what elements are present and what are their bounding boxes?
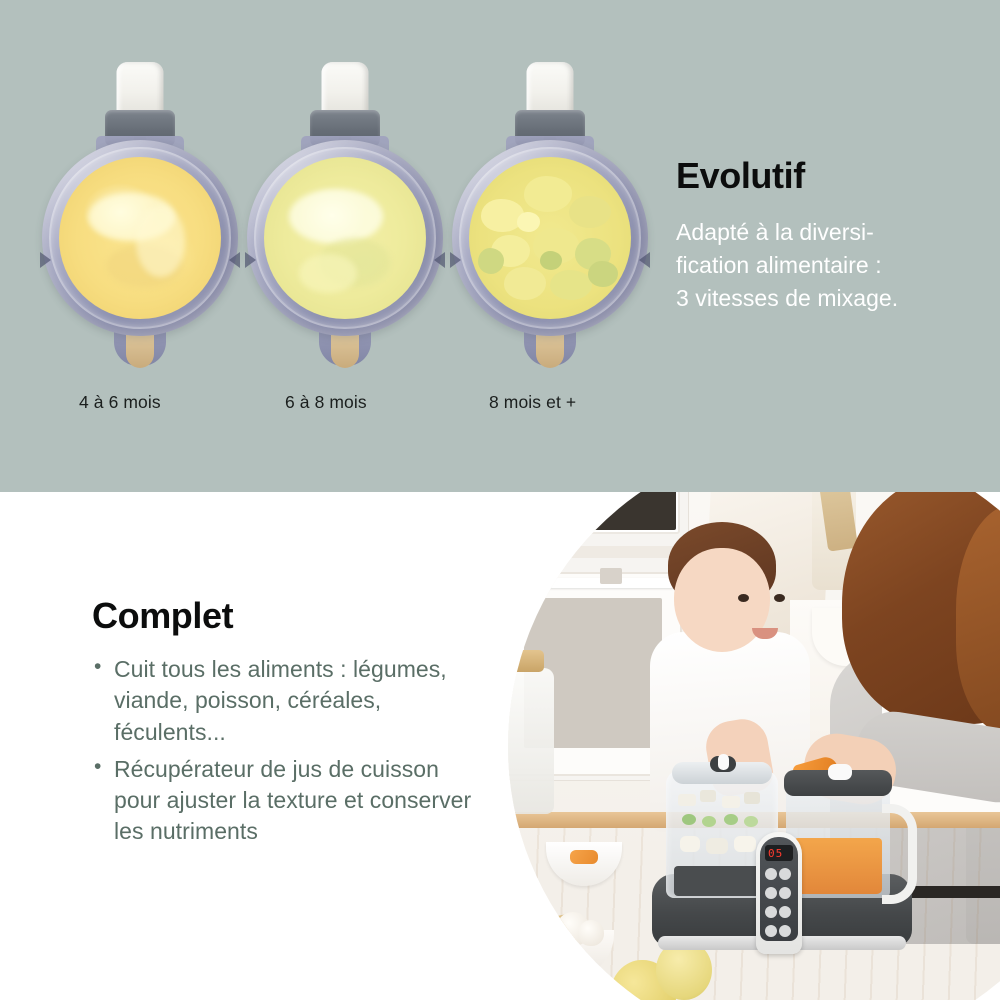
food-puree-textured bbox=[264, 157, 426, 319]
garlic-bulb-3 bbox=[578, 920, 604, 946]
control-button[interactable] bbox=[779, 887, 791, 899]
lifestyle-photo-wrap: BABY MOOV bbox=[480, 492, 1000, 1000]
control-button[interactable] bbox=[779, 925, 791, 937]
control-button[interactable] bbox=[779, 906, 791, 918]
feature-bullet-2: Récupérateur de jus de cuisson pour ajus… bbox=[92, 754, 472, 848]
food-chunky bbox=[469, 157, 631, 319]
jar-cap bbox=[526, 62, 573, 117]
evolutif-body-line-2: fication alimentaire : bbox=[676, 252, 882, 278]
display-value: 05 bbox=[768, 847, 783, 860]
lifestyle-photo-mask: BABY MOOV bbox=[508, 492, 1000, 1000]
carrot-pieces bbox=[570, 850, 598, 864]
age-label-1: 4 à 6 mois bbox=[79, 392, 161, 413]
control-button[interactable] bbox=[765, 925, 777, 937]
spice-jar-lid bbox=[508, 906, 514, 920]
child-eye-right bbox=[774, 594, 785, 602]
complet-copy: Complet Cuit tous les aliments : légumes… bbox=[92, 598, 472, 854]
pea-piece bbox=[744, 816, 758, 827]
pea-piece bbox=[702, 816, 716, 827]
control-button[interactable] bbox=[779, 868, 791, 880]
wall-socket-icon bbox=[600, 568, 622, 584]
jar-cap bbox=[321, 62, 368, 117]
food-piece bbox=[706, 838, 728, 854]
feature-bullet-1: Cuit tous les aliments : légumes, viande… bbox=[92, 654, 472, 748]
evolutif-body-line-3: 3 vitesses de mixage. bbox=[676, 285, 898, 311]
food-piece bbox=[700, 790, 716, 802]
lifestyle-photo: BABY MOOV bbox=[508, 492, 1000, 1000]
feature-bullet-list: Cuit tous les aliments : légumes, viande… bbox=[92, 654, 472, 848]
jug-knob bbox=[828, 764, 852, 780]
control-panel[interactable]: 05 bbox=[756, 832, 802, 954]
product-feature-page: 4 à 6 mois 6 à 8 mois 8 mois et + Evolut… bbox=[0, 0, 1000, 1000]
child-face bbox=[674, 548, 770, 652]
pea-piece bbox=[724, 814, 738, 825]
food-puree-smooth bbox=[59, 157, 221, 319]
jar-tab-right bbox=[434, 252, 445, 268]
blender-jar-icon bbox=[447, 62, 652, 362]
child-eye-left bbox=[738, 594, 749, 602]
garlic-bulb-1 bbox=[528, 916, 558, 946]
glass-bottle-icon bbox=[508, 668, 554, 814]
jar-body bbox=[247, 140, 443, 336]
jar-tab-right bbox=[229, 252, 240, 268]
jar-body bbox=[42, 140, 238, 336]
evolutif-body: Adapté à la diversi- fication alimentair… bbox=[676, 216, 986, 315]
jar-cap bbox=[116, 62, 163, 117]
complet-heading: Complet bbox=[92, 598, 472, 634]
control-panel-face[interactable]: 05 bbox=[760, 837, 798, 941]
food-piece bbox=[744, 792, 760, 804]
evolutif-heading: Evolutif bbox=[676, 158, 986, 194]
evolutif-section: 4 à 6 mois 6 à 8 mois 8 mois et + Evolut… bbox=[0, 0, 1000, 492]
control-button[interactable] bbox=[765, 887, 777, 899]
spice-jar-icon bbox=[508, 914, 516, 988]
control-button[interactable] bbox=[765, 868, 777, 880]
food-piece bbox=[678, 794, 696, 806]
cork-stopper bbox=[510, 650, 544, 672]
button-grid[interactable] bbox=[764, 867, 794, 943]
jar-tab-left bbox=[40, 252, 51, 268]
baby-food-processor: BABY MOOV bbox=[652, 770, 912, 956]
evolutif-body-line-1: Adapté à la diversi- bbox=[676, 219, 874, 245]
display-screen: 05 bbox=[765, 845, 793, 861]
jar-tab-left bbox=[245, 252, 256, 268]
jar-tab-left bbox=[450, 252, 461, 268]
jug-handle bbox=[882, 804, 917, 904]
food-piece bbox=[722, 796, 740, 808]
control-button[interactable] bbox=[765, 906, 777, 918]
steamer-knob-cap bbox=[718, 754, 729, 770]
jar-tab-right bbox=[639, 252, 650, 268]
pea-piece bbox=[682, 814, 696, 825]
jar-body bbox=[452, 140, 648, 336]
blender-jar-icon bbox=[242, 62, 447, 362]
evolutif-copy: Evolutif Adapté à la diversi- fication a… bbox=[676, 158, 986, 315]
age-labels-row: 4 à 6 mois 6 à 8 mois 8 mois et + bbox=[0, 392, 660, 432]
food-piece bbox=[734, 836, 756, 852]
complet-section: BABY MOOV bbox=[0, 492, 1000, 1000]
age-label-3: 8 mois et + bbox=[489, 392, 576, 413]
age-label-2: 6 à 8 mois bbox=[285, 392, 367, 413]
blender-jar-icon bbox=[37, 62, 242, 362]
food-piece bbox=[680, 836, 700, 852]
jug-contents-puree bbox=[794, 838, 882, 894]
